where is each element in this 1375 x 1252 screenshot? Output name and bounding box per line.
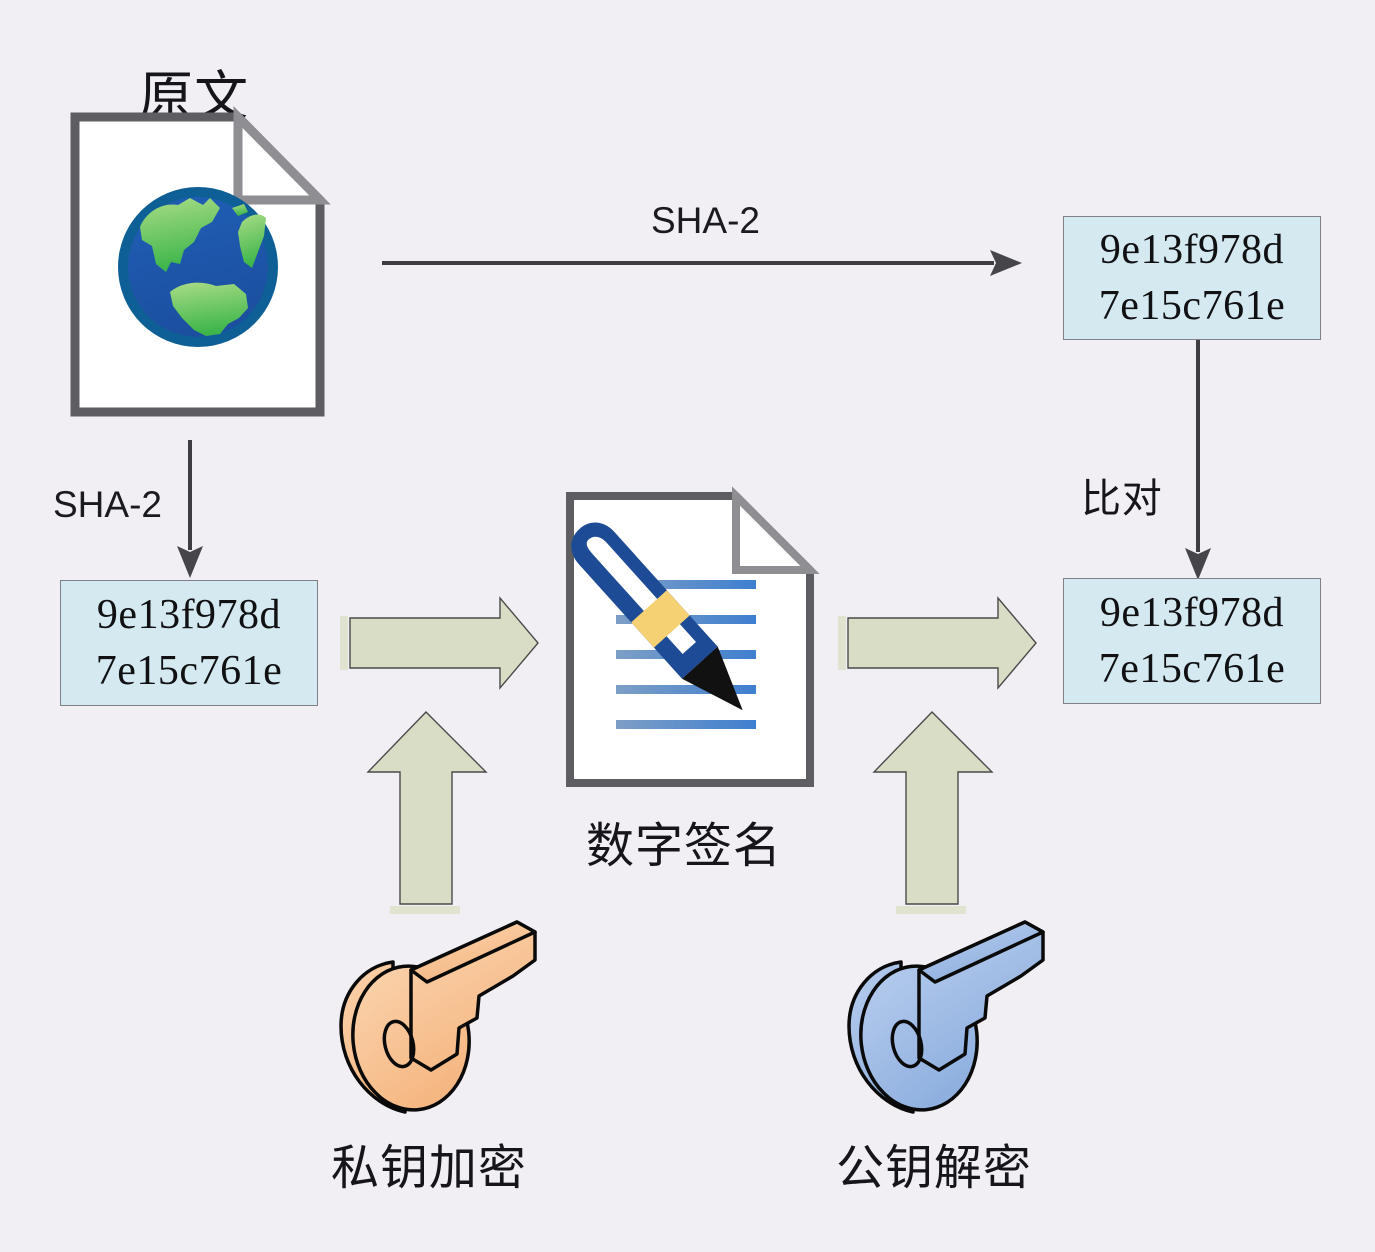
hash-line-1: 9e13f978d (1100, 222, 1284, 278)
private-key-label: 私钥加密 (331, 1128, 527, 1198)
signature-document-icon (566, 492, 814, 787)
hash-line-2: 7e15c761e (1099, 278, 1285, 334)
public-key-label: 公钥解密 (836, 1128, 1032, 1198)
source-document-icon (70, 112, 325, 417)
block-arrow-private-key (366, 710, 488, 916)
hash-box-top-right: 9e13f978d 7e15c761e (1063, 216, 1321, 340)
hash-box-bottom-left: 9e13f978d 7e15c761e (60, 580, 318, 706)
hash-line-2: 7e15c761e (1099, 641, 1285, 697)
block-arrow-public-key (872, 710, 994, 916)
hash-line-2: 7e15c761e (96, 643, 282, 699)
compare-arrow (1183, 340, 1213, 580)
hash-line-1: 9e13f978d (1100, 585, 1284, 641)
compare-label: 比对 (1081, 466, 1163, 524)
hash-box-bottom-right: 9e13f978d 7e15c761e (1063, 578, 1321, 704)
public-key-icon (835, 918, 1050, 1118)
block-arrow-sign (340, 596, 540, 690)
top-sha-label: SHA-2 (651, 200, 760, 242)
left-sha-arrow (175, 440, 205, 578)
private-key-icon (327, 918, 542, 1118)
globe-icon (118, 187, 278, 347)
signature-label: 数字签名 (586, 806, 782, 876)
block-arrow-verify (838, 596, 1038, 690)
hash-line-1: 9e13f978d (97, 587, 281, 643)
diagram-canvas: 原文 (0, 0, 1375, 1252)
top-sha-arrow (382, 248, 1022, 278)
left-sha-label: SHA-2 (53, 484, 162, 526)
